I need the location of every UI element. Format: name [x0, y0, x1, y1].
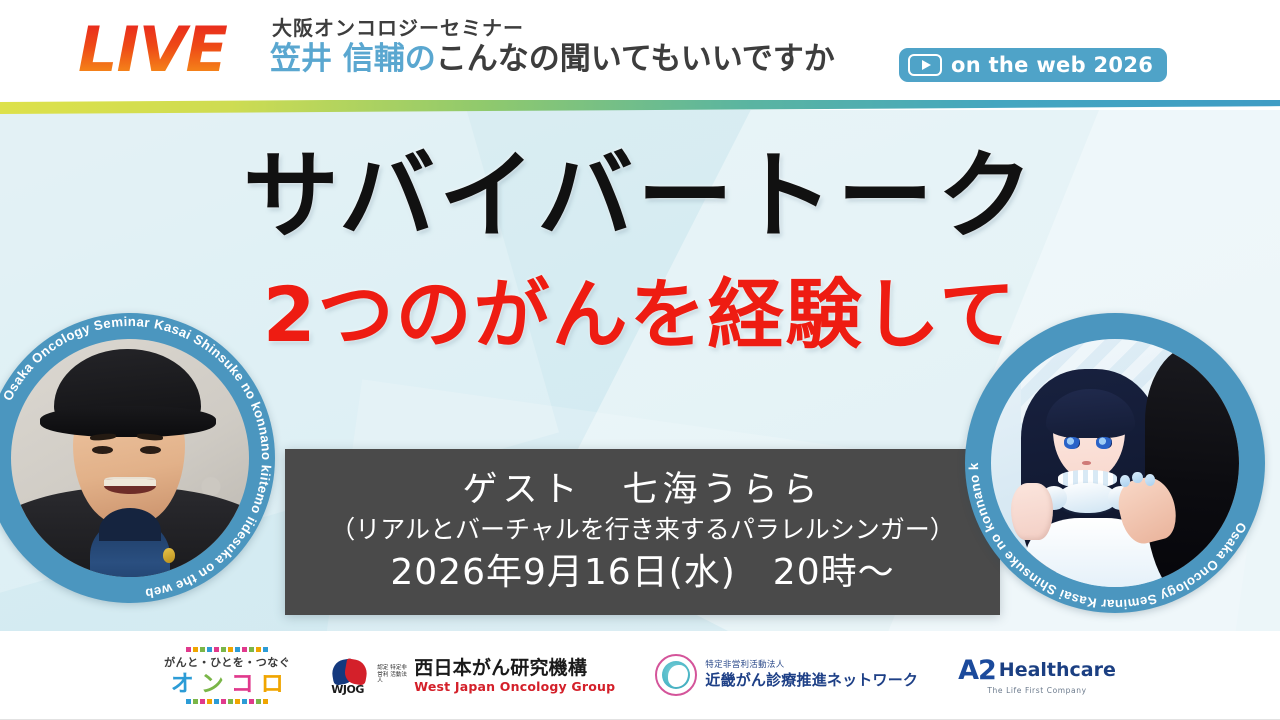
web-badge-label: on the web 2026 [951, 53, 1153, 77]
play-icon [908, 54, 942, 76]
oncolo-char-1: ン [201, 672, 224, 697]
logo-wjog[interactable]: WJOG 認定 特定非営利 活動法人 西日本がん研究機構 West Japan … [330, 655, 615, 695]
host-name: 笠井 信輔の [270, 41, 436, 77]
guest-role: （リアルとバーチャルを行き来するパラレルシンガー） [330, 514, 955, 546]
oncolo-dots-bottom [186, 699, 268, 704]
oncolo-dots-top [186, 647, 268, 652]
svg-text:Osaka Oncology Seminar Kasai S: Osaka Oncology Seminar Kasai Shinsuke no… [0, 314, 274, 601]
wjog-tiny-text: 認定 特定非営利 活動法人 [377, 665, 407, 685]
wjog-mark-icon: WJOG [330, 655, 370, 695]
live-logo: LIVE [78, 18, 227, 82]
oncolo-tagline: がんと・ひとを・つなぐ [164, 654, 290, 670]
ring-text-right-label: Osaka Oncology Seminar Kasai Shinsuke no… [965, 313, 1250, 612]
event-datetime: 2026年9月16日(水) 20時〜 [390, 551, 894, 595]
seminar-subtitle: 大阪オンコロジーセミナー [272, 12, 524, 41]
kinki-small-text: 特定非営利活動法人 [705, 660, 918, 671]
guest-portrait-circle: Osaka Oncology Seminar Kasai Shinsuke no… [965, 313, 1265, 613]
kinki-mark-icon [655, 654, 697, 696]
wjog-name-jp: 西日本がん研究機構 [414, 657, 615, 679]
oncolo-char-3: ロ [261, 672, 284, 697]
wjog-abbrev: WJOG [331, 683, 364, 696]
host-title-rest: こんなの聞いてもいいですか [436, 41, 835, 77]
host-portrait-circle: Osaka Oncology Seminar Kasai Shinsuke no… [0, 313, 275, 603]
a2-tagline: The Life First Company [987, 686, 1086, 695]
main-title: サバイバートーク [0, 142, 1280, 250]
oncolo-char-2: コ [231, 672, 254, 697]
wjog-name-en: West Japan Oncology Group [414, 679, 615, 694]
a2-word: Healthcare [999, 659, 1116, 681]
logo-oncolo[interactable]: がんと・ひとを・つなぐ オ ン コ ロ [164, 647, 290, 704]
logo-kinki-cancer-network[interactable]: 特定非営利活動法人 近畿がん診療推進ネットワーク [655, 654, 918, 696]
guest-name: ゲスト 七海うらら [462, 469, 822, 511]
oncolo-char-0: オ [171, 672, 194, 697]
ring-text-left-label: Osaka Oncology Seminar Kasai Shinsuke no… [0, 314, 274, 601]
svg-text:Osaka Oncology Seminar Kasai S: Osaka Oncology Seminar Kasai Shinsuke no… [965, 313, 1250, 612]
a2-mark: A2 [958, 656, 996, 685]
event-info-panel: ゲスト 七海うらら （リアルとバーチャルを行き来するパラレルシンガー） 2026… [285, 449, 1000, 615]
ring-text-left: Osaka Oncology Seminar Kasai Shinsuke no… [0, 313, 275, 603]
oncolo-wordmark: オ ン コ ロ [171, 672, 284, 697]
on-the-web-badge[interactable]: on the web 2026 [899, 48, 1167, 82]
header-bar: LIVE 大阪オンコロジーセミナー 笠井 信輔のこんなの聞いてもいいですか on… [0, 0, 1280, 100]
kinki-name: 近畿がん診療推進ネットワーク [705, 671, 918, 690]
poster-stage: LIVE 大阪オンコロジーセミナー 笠井 信輔のこんなの聞いてもいいですか on… [0, 0, 1280, 720]
seminar-title: 笠井 信輔のこんなの聞いてもいいですか [270, 41, 835, 77]
ring-text-right: Osaka Oncology Seminar Kasai Shinsuke no… [965, 313, 1265, 613]
sponsor-footer: がんと・ひとを・つなぐ オ ン コ ロ WJOG 認定 特定非営利 活動法人 [0, 631, 1280, 720]
logo-a2-healthcare[interactable]: A2 Healthcare The Life First Company [958, 656, 1116, 695]
